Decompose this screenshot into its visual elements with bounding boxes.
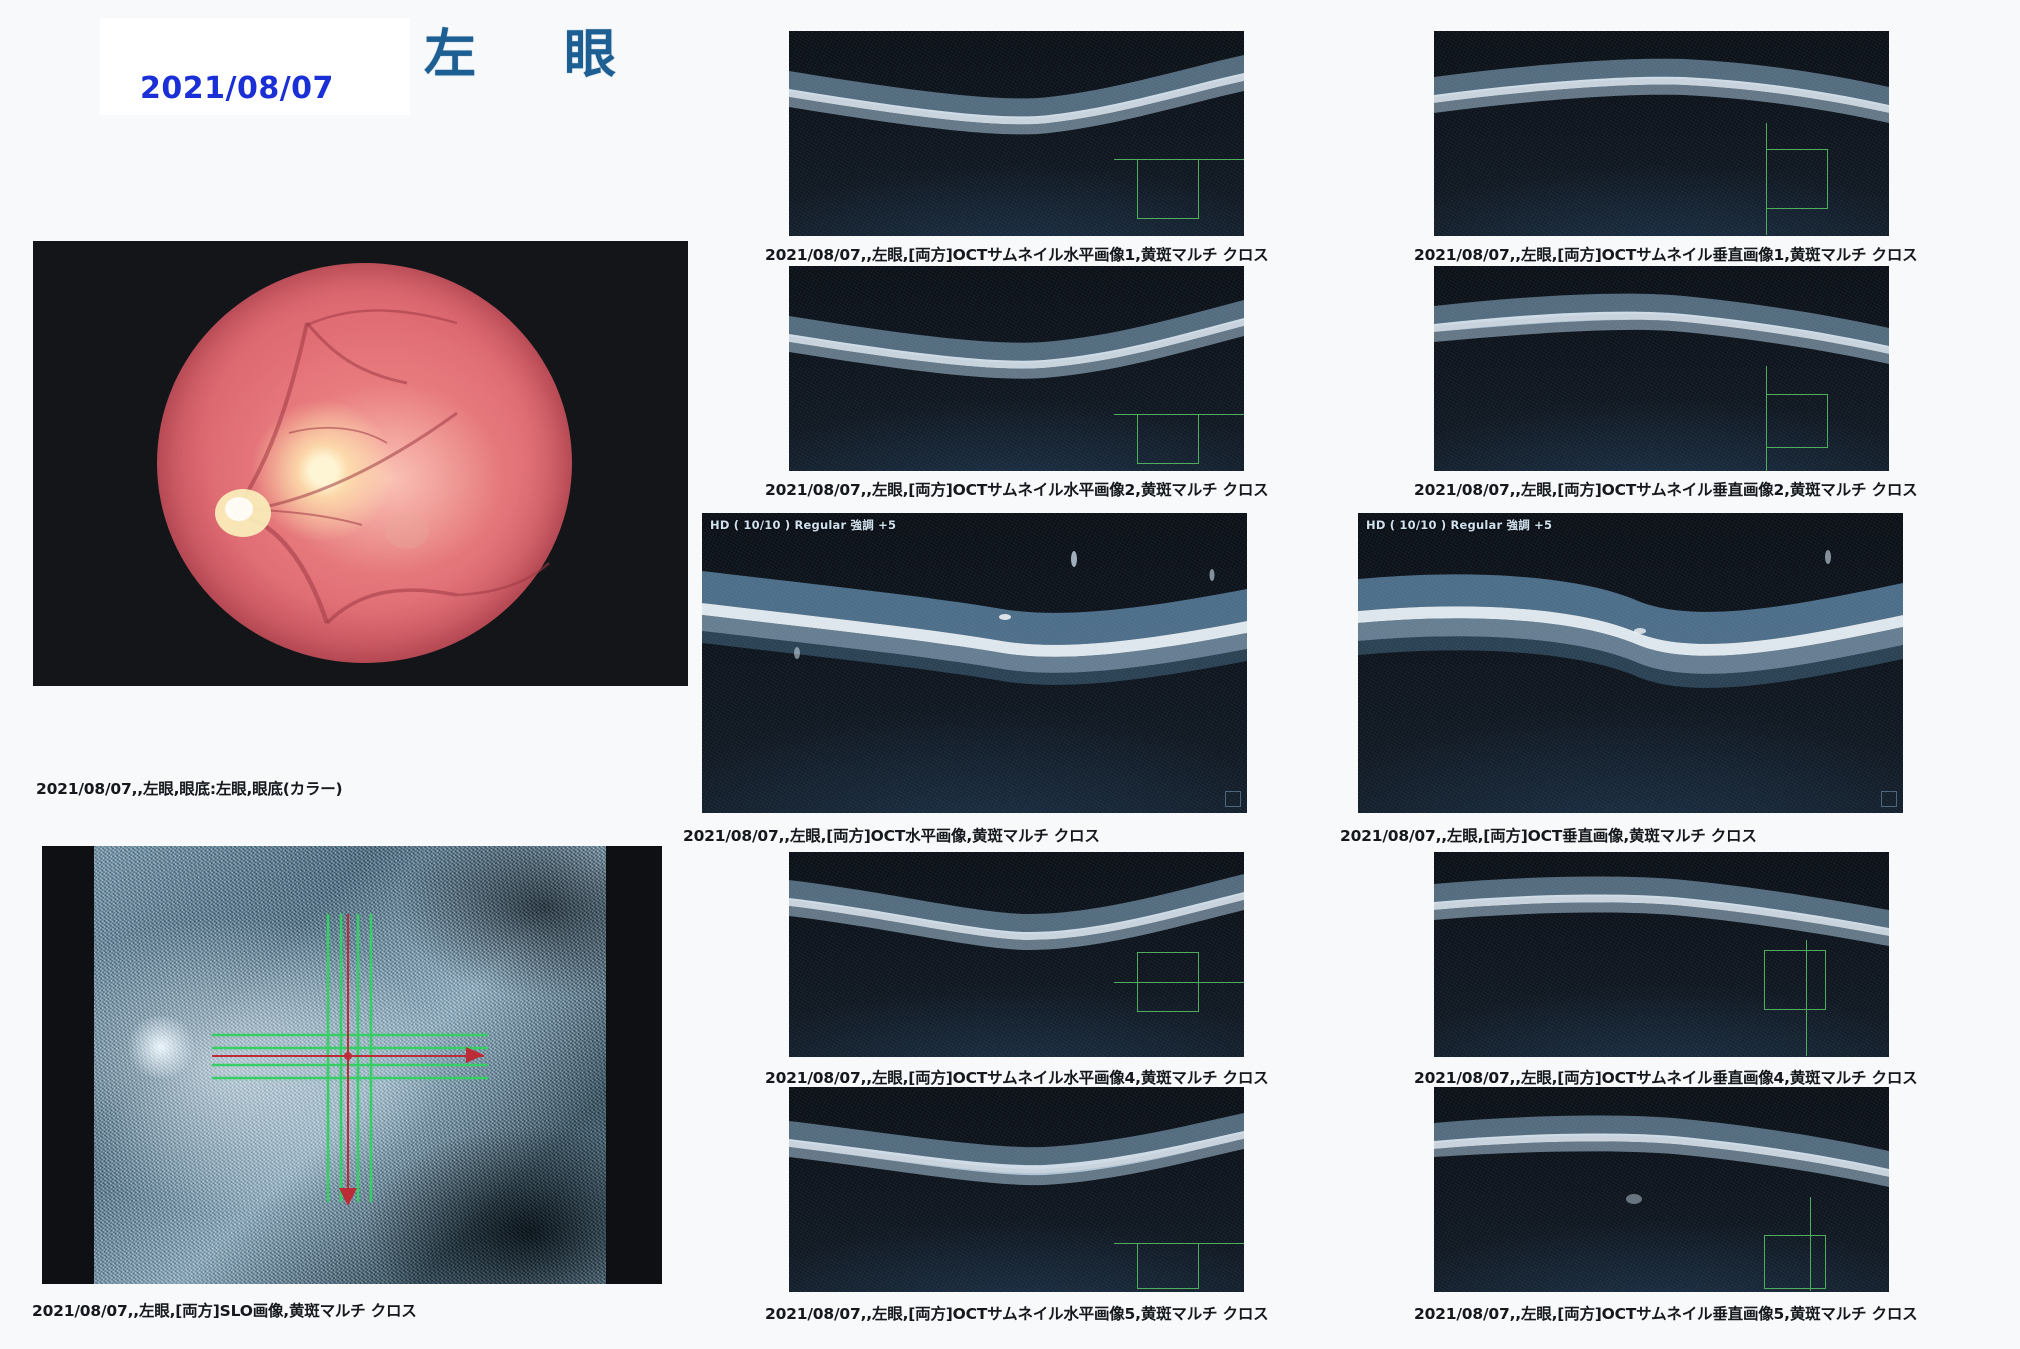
- oct-corner-marker: [1881, 791, 1897, 807]
- date-badge: 2021/08/07: [100, 18, 410, 115]
- oct-thumb-v5[interactable]: [1434, 1087, 1889, 1292]
- oct-thumb-h5[interactable]: [789, 1087, 1244, 1292]
- fundus-vessels-icon: [157, 263, 572, 663]
- oct-locator-box: [1137, 159, 1199, 219]
- oct-thumb-h5-caption: 2021/08/07,,左眼,[両方]OCTサムネイル水平画像5,黄斑マルチ ク…: [765, 1302, 1268, 1324]
- oct-thumb-h4[interactable]: [789, 852, 1244, 1057]
- oct-noise: [1358, 513, 1903, 813]
- oct-main-v-caption: 2021/08/07,,左眼,[両方]OCT垂直画像,黄斑マルチ クロス: [1340, 824, 1757, 846]
- oct-thumb-h1[interactable]: [789, 31, 1244, 236]
- fundus-photograph[interactable]: [33, 241, 688, 686]
- oct-thumb-h2[interactable]: [789, 266, 1244, 471]
- exam-date: 2021/08/07: [140, 71, 334, 106]
- oct-main-vertical[interactable]: HD ( 10/10 ) Regular 強調 +5: [1358, 513, 1903, 813]
- oct-noise: [702, 513, 1247, 813]
- page-title-eye: 左 眼: [424, 12, 634, 87]
- oct-locator-box: [1137, 1243, 1199, 1289]
- oct-locator-box: [1137, 952, 1199, 1012]
- oct-thumb-h4-caption: 2021/08/07,,左眼,[両方]OCTサムネイル水平画像4,黄斑マルチ ク…: [765, 1066, 1268, 1088]
- oct-hd-overlay-label: HD ( 10/10 ) Regular 強調 +5: [710, 517, 896, 533]
- oct-thumb-v1-caption: 2021/08/07,,左眼,[両方]OCTサムネイル垂直画像1,黄斑マルチ ク…: [1414, 243, 1917, 265]
- oct-thumb-v4[interactable]: [1434, 852, 1889, 1057]
- fundus-caption: 2021/08/07,,左眼,眼底:左眼,眼底(カラー): [36, 777, 342, 799]
- oct-locator-box: [1137, 414, 1199, 464]
- oct-corner-marker: [1225, 791, 1241, 807]
- oct-thumb-h1-caption: 2021/08/07,,左眼,[両方]OCTサムネイル水平画像1,黄斑マルチ ク…: [765, 243, 1268, 265]
- oct-locator-box: [1766, 149, 1828, 209]
- oct-thumb-v4-caption: 2021/08/07,,左眼,[両方]OCTサムネイル垂直画像4,黄斑マルチ ク…: [1414, 1066, 1917, 1088]
- slo-en-face: [94, 846, 606, 1284]
- oct-hd-overlay-label: HD ( 10/10 ) Regular 強調 +5: [1366, 517, 1552, 533]
- oct-thumb-v2-caption: 2021/08/07,,左眼,[両方]OCTサムネイル垂直画像2,黄斑マルチ ク…: [1414, 478, 1917, 500]
- slo-caption: 2021/08/07,,左眼,[両方]SLO画像,黄斑マルチ クロス: [32, 1299, 417, 1321]
- fundus-retina-disc: [157, 263, 572, 663]
- slo-arrowheads-icon: [94, 846, 606, 1284]
- oct-thumb-h2-caption: 2021/08/07,,左眼,[両方]OCTサムネイル水平画像2,黄斑マルチ ク…: [765, 478, 1268, 500]
- oct-thumb-v1[interactable]: [1434, 31, 1889, 236]
- oct-main-horizontal[interactable]: HD ( 10/10 ) Regular 強調 +5: [702, 513, 1247, 813]
- oct-locator-box: [1764, 950, 1826, 1010]
- oct-locator-box: [1766, 394, 1828, 448]
- oct-thumb-v2[interactable]: [1434, 266, 1889, 471]
- slo-image[interactable]: [42, 846, 662, 1284]
- oct-thumb-v5-caption: 2021/08/07,,左眼,[両方]OCTサムネイル垂直画像5,黄斑マルチ ク…: [1414, 1302, 1917, 1324]
- oct-main-h-caption: 2021/08/07,,左眼,[両方]OCT水平画像,黄斑マルチ クロス: [683, 824, 1100, 846]
- oct-locator-box: [1764, 1235, 1826, 1289]
